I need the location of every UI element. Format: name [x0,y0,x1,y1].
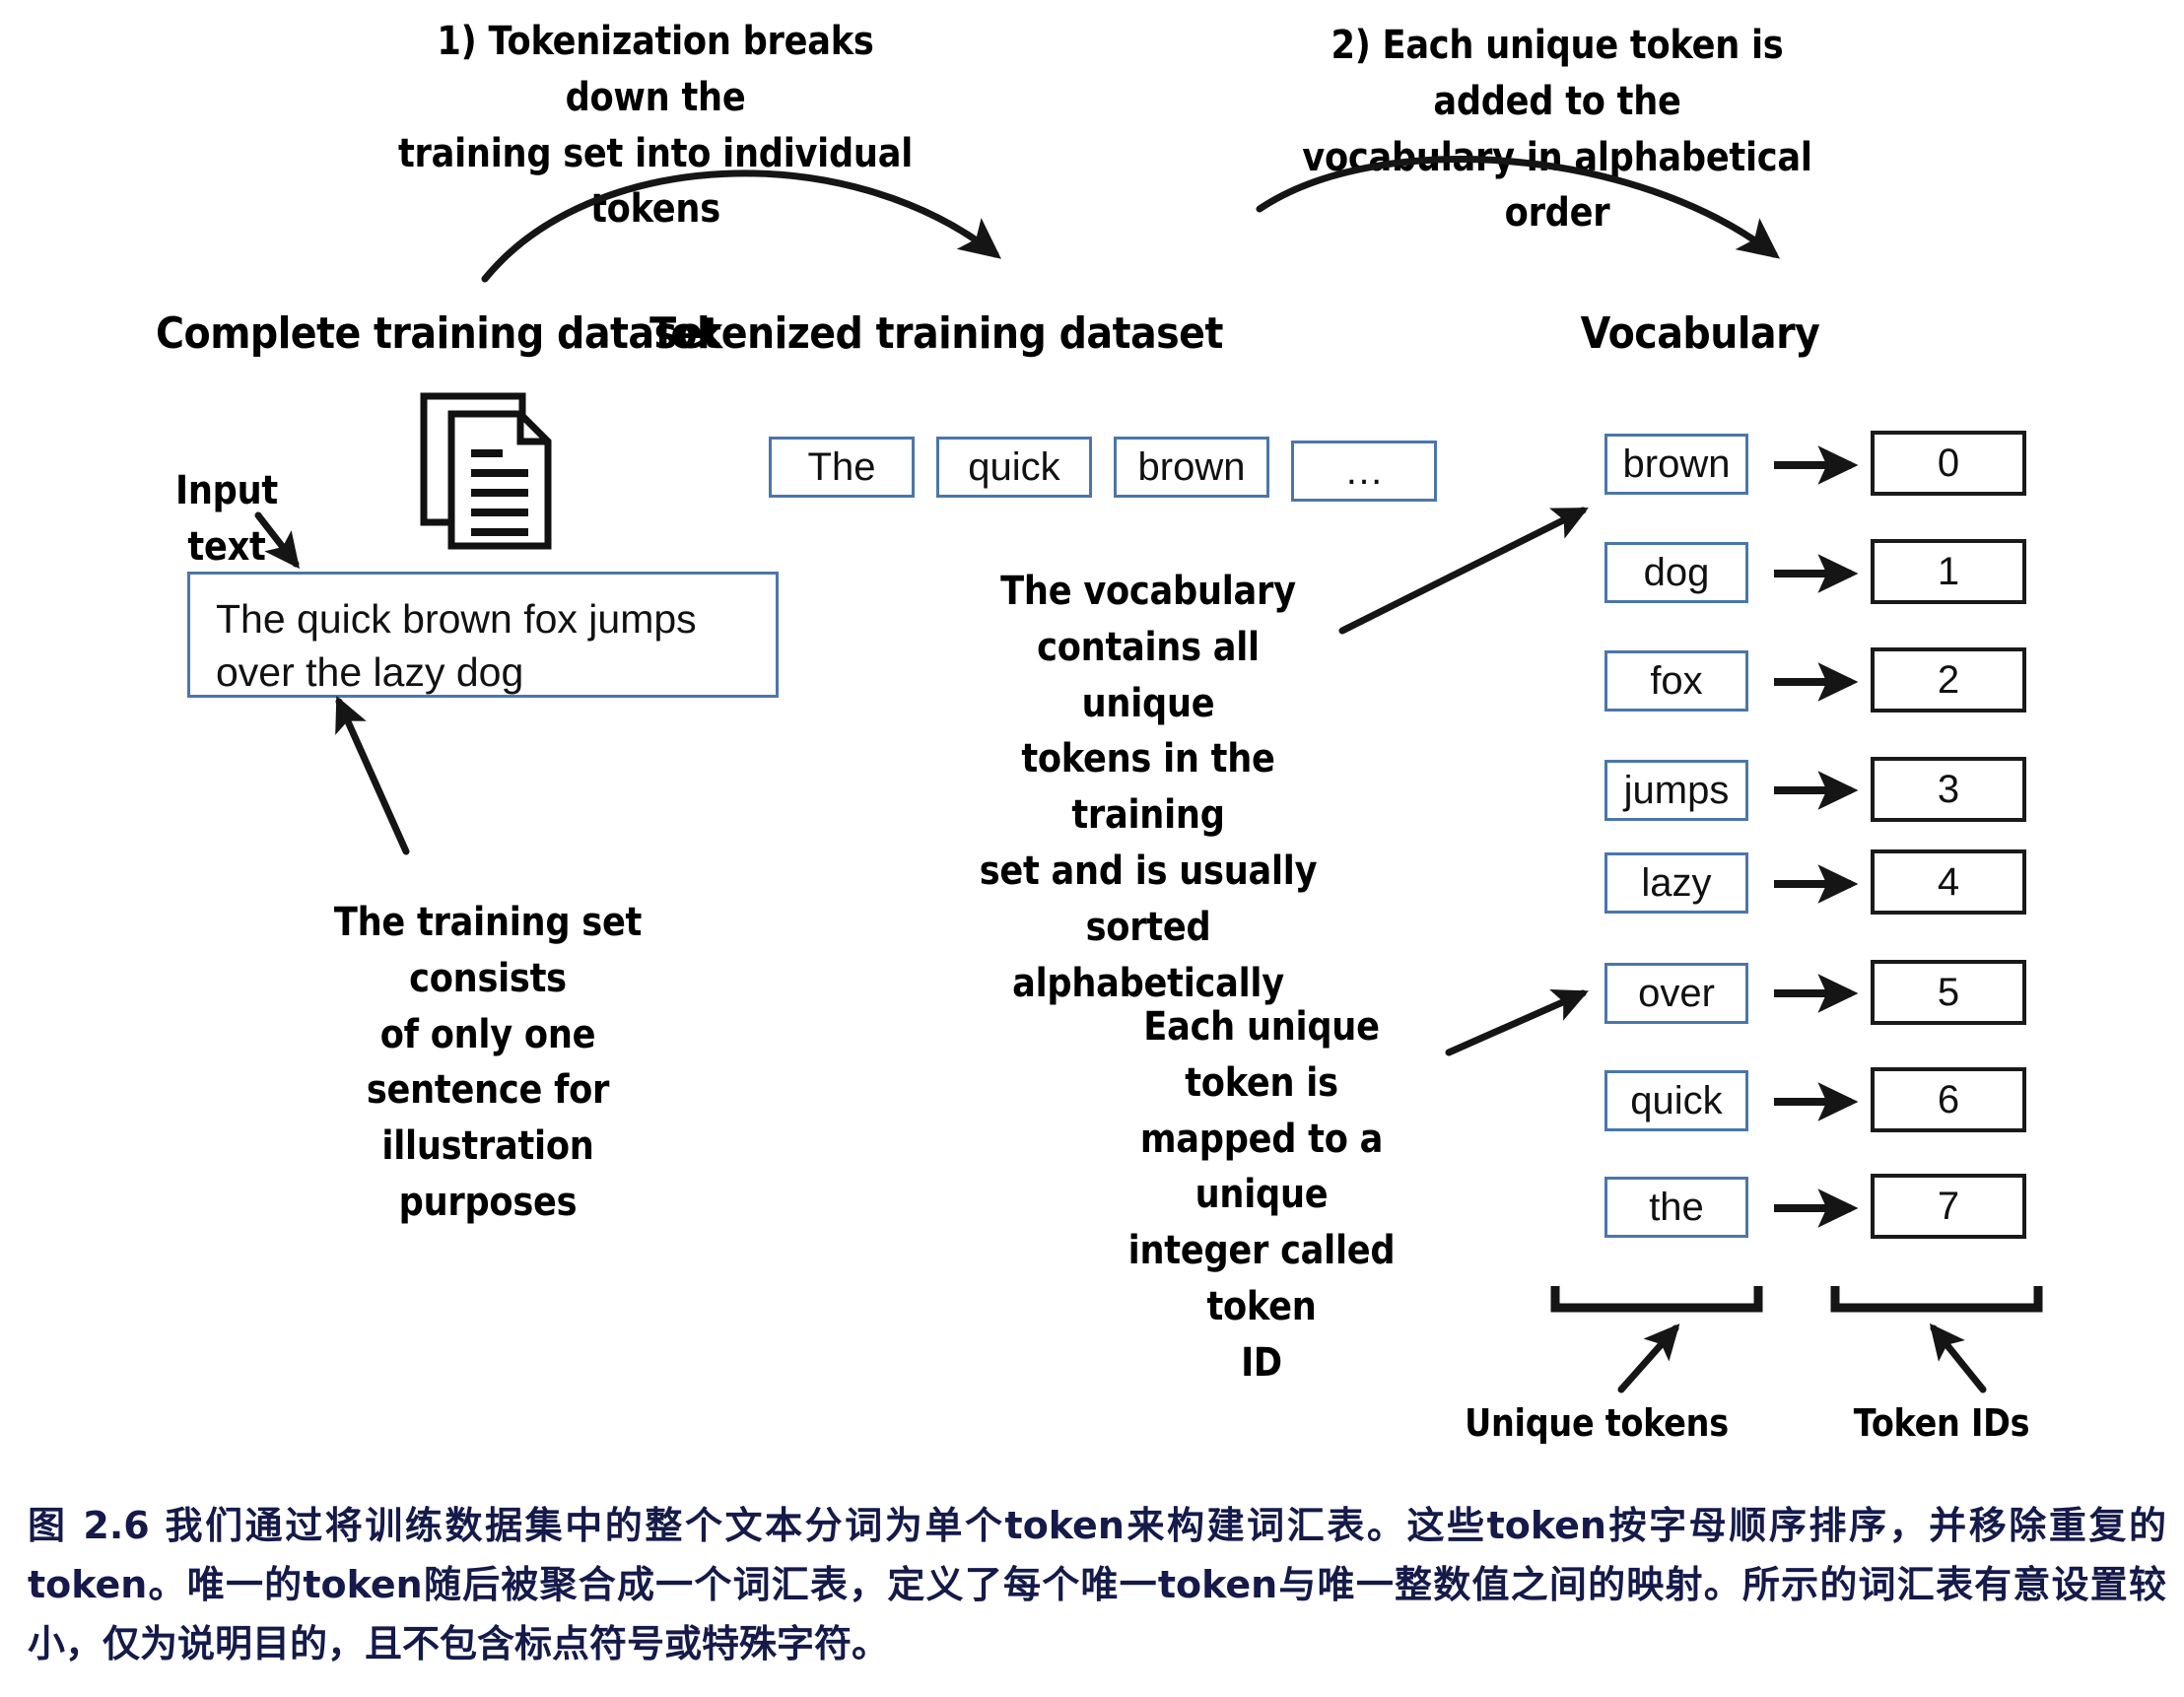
document-stack-icon [418,392,576,550]
vocab-id-label: 5 [1938,971,1959,1015]
vocab-id-label: 6 [1938,1078,1959,1122]
vocab-token-label: brown [1623,442,1731,487]
token-id-note: Each unique token is mapped to a unique … [1092,999,1430,1392]
token-ids-label: Token IDs [1799,1397,2084,1451]
vocab-id-label: 2 [1938,658,1959,703]
vocab-token-label: quick [1630,1079,1722,1123]
vocab-id-label: 7 [1938,1185,1959,1229]
heading-tokenized-training-dataset: Tokenized training dataset [622,308,1252,359]
vocab-id-box: 3 [1871,757,2026,822]
vocab-id-label: 1 [1938,550,1959,594]
token-chip-3: … [1291,441,1437,502]
training-set-note: The training set consists of only one se… [289,895,688,1231]
figure-caption: 图 2.6 我们通过将训练数据集中的整个文本分词为单个token来构建词汇表。这… [28,1496,2166,1673]
heading-complete-training-dataset: Complete training dataset [156,308,652,359]
token-chip-label: quick [968,445,1059,490]
unique-tokens-label: Unique tokens [1454,1397,1740,1451]
heading-vocabulary: Vocabulary [1510,308,1891,359]
vocab-token-label: lazy [1641,861,1711,906]
token-chip-label: brown [1138,445,1246,490]
vocab-id-label: 3 [1938,768,1959,812]
vocabulary-note-arrow [1342,510,1583,631]
vocabulary-note: The vocabulary contains all unique token… [966,564,1331,1011]
vocab-id-label: 4 [1938,860,1959,905]
vocab-id-box: 1 [1871,539,2026,604]
token-chip-0: The [769,437,915,498]
vocab-id-box: 0 [1871,431,2026,496]
vocab-id-box: 4 [1871,849,2026,915]
vocab-token-box: fox [1604,650,1748,712]
token-ids-label-arrow [1934,1328,1983,1390]
vocab-token-box: over [1604,963,1748,1024]
vocab-id-box: 5 [1871,960,2026,1025]
vocab-token-box: the [1604,1177,1748,1238]
figure-canvas: 1) Tokenization breaks down the training… [0,0,2184,1697]
vocab-id-box: 2 [1871,647,2026,713]
token-chip-2: brown [1114,437,1269,498]
vocab-token-box: lazy [1604,852,1748,914]
token-chip-label: … [1344,449,1384,494]
vocab-id-box: 7 [1871,1174,2026,1239]
vocab-token-box: brown [1604,434,1748,495]
step-2-caption: 2) Each unique token is added to the voc… [1288,18,1826,241]
vocab-id-label: 0 [1938,441,1959,486]
step-1-caption: 1) Tokenization breaks down the training… [386,14,924,238]
vocab-token-label: fox [1650,659,1702,704]
vocab-token-label: dog [1644,551,1710,595]
unique-tokens-bracket [1555,1286,1758,1308]
unique-tokens-label-arrow [1621,1328,1675,1390]
vocab-token-label: jumps [1624,769,1730,813]
token-chip-1: quick [936,437,1092,498]
token-id-note-arrow [1449,993,1583,1052]
training-set-note-arrow [339,702,406,851]
token-ids-bracket [1835,1286,2038,1308]
vocab-token-label: the [1649,1186,1704,1230]
input-text-box[interactable]: The quick brown fox jumps over the lazy … [187,572,779,698]
input-text-label: Input text [131,463,322,576]
vocab-id-box: 6 [1871,1067,2026,1132]
vocab-token-box: dog [1604,542,1748,603]
vocab-token-label: over [1638,972,1715,1016]
vocab-token-box: jumps [1604,760,1748,821]
vocabulary-table: brown 0 dog 1 fox 2 jumps 3 lazy [1604,434,2028,1232]
token-chip-label: The [808,445,876,490]
vocab-token-box: quick [1604,1070,1748,1131]
